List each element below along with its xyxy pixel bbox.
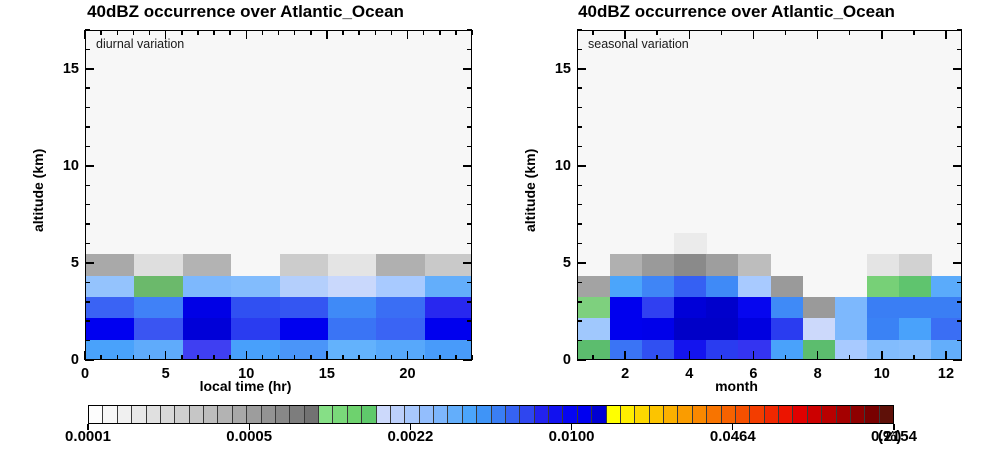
heatmap-cell bbox=[231, 254, 280, 276]
colorbar-segment bbox=[333, 406, 347, 423]
y-tick-right bbox=[957, 204, 962, 206]
y-tick-right bbox=[467, 243, 472, 245]
x-tick bbox=[246, 351, 248, 360]
x-tick bbox=[407, 351, 409, 360]
x-tick-top bbox=[326, 30, 328, 39]
colorbar-segment bbox=[678, 406, 692, 423]
x-tick-top bbox=[229, 30, 231, 35]
y-tick bbox=[85, 243, 90, 245]
y-tick-right bbox=[957, 107, 962, 109]
heatmap-cell bbox=[134, 254, 183, 276]
colorbar-tick-label: 0.0001 bbox=[65, 428, 111, 445]
colorbar-tick-label: 0.0022 bbox=[387, 428, 433, 445]
heatmap-cell bbox=[183, 254, 232, 276]
heatmap-cell bbox=[231, 340, 280, 360]
y-tick bbox=[85, 29, 90, 31]
heatmap-cell bbox=[674, 276, 707, 298]
heatmap-cell bbox=[867, 276, 900, 298]
x-tick bbox=[342, 355, 344, 360]
x-tick-top bbox=[310, 30, 312, 35]
heatmap-cell bbox=[771, 340, 804, 360]
heatmap-cell bbox=[835, 318, 868, 340]
y-tick-right bbox=[953, 68, 962, 70]
colorbar-segment bbox=[290, 406, 304, 423]
x-tick bbox=[278, 355, 280, 360]
heatmap-cell bbox=[86, 318, 135, 340]
x-tick-top bbox=[375, 30, 377, 35]
heatmap-cell bbox=[674, 233, 707, 255]
y-tick bbox=[85, 340, 90, 342]
heatmap-cell bbox=[738, 254, 771, 276]
colorbar-segment bbox=[118, 406, 132, 423]
y-tick-right bbox=[957, 243, 962, 245]
x-tick-top bbox=[262, 30, 264, 35]
heatmap-cell bbox=[867, 297, 900, 319]
colorbar-segment bbox=[89, 406, 103, 423]
colorbar-segment bbox=[348, 406, 362, 423]
colorbar-segment bbox=[463, 406, 477, 423]
x-tick-top bbox=[117, 30, 119, 35]
x-tick bbox=[423, 355, 425, 360]
heatmap-cell bbox=[231, 318, 280, 340]
colorbar-segment bbox=[736, 406, 750, 423]
x-tick-top bbox=[149, 30, 151, 35]
colorbar-segment bbox=[621, 406, 635, 423]
x-tick bbox=[391, 355, 393, 360]
x-tick-top bbox=[342, 30, 344, 35]
heatmap-cell bbox=[183, 318, 232, 340]
y-tick-label: 15 bbox=[55, 61, 79, 77]
x-tick bbox=[197, 355, 199, 360]
heatmap-cell bbox=[642, 254, 675, 276]
colorbar-unit-label: (%) bbox=[878, 428, 901, 445]
heatmap-cell bbox=[674, 340, 707, 360]
heatmap-cell bbox=[803, 340, 836, 360]
colorbar-segment bbox=[520, 406, 534, 423]
x-tick bbox=[455, 355, 457, 360]
y-tick bbox=[577, 29, 582, 31]
y-tick bbox=[85, 126, 90, 128]
y-tick-right bbox=[467, 87, 472, 89]
colorbar-segment bbox=[477, 406, 491, 423]
y-tick bbox=[577, 126, 582, 128]
y-tick bbox=[577, 359, 586, 361]
y-tick-right bbox=[467, 282, 472, 284]
colorbar-segment bbox=[161, 406, 175, 423]
heatmap-cell bbox=[134, 318, 183, 340]
plot-area-diurnal: diurnal variation bbox=[85, 30, 472, 360]
y-tick bbox=[85, 87, 90, 89]
x-tick bbox=[624, 351, 626, 360]
y-tick bbox=[85, 68, 94, 70]
colorbar-segment bbox=[822, 406, 836, 423]
colorbar-segment bbox=[247, 406, 261, 423]
heatmap-cell bbox=[376, 276, 425, 298]
x-tick bbox=[133, 355, 135, 360]
x-tick-top bbox=[181, 30, 183, 35]
x-tick-top bbox=[407, 30, 409, 39]
x-tick-top bbox=[439, 30, 441, 35]
heatmap-cell bbox=[706, 297, 739, 319]
heatmap-cell bbox=[86, 297, 135, 319]
heatmap-cell bbox=[642, 297, 675, 319]
heatmap-cell bbox=[738, 340, 771, 360]
y-tick-right bbox=[957, 282, 962, 284]
x-tick-top bbox=[391, 30, 393, 35]
x-tick-top bbox=[721, 30, 723, 35]
x-tick-top bbox=[358, 30, 360, 35]
heatmap-cell bbox=[280, 340, 329, 360]
x-tick-top bbox=[785, 30, 787, 35]
heatmap-cell bbox=[835, 340, 868, 360]
colorbar-segment bbox=[434, 406, 448, 423]
y-tick bbox=[577, 185, 582, 187]
heatmap-cell bbox=[134, 297, 183, 319]
heatmap-cell bbox=[674, 318, 707, 340]
y-tick-right bbox=[463, 262, 472, 264]
y-tick-right bbox=[957, 223, 962, 225]
y-axis-title-diurnal: altitude (km) bbox=[30, 149, 46, 232]
heatmap-cell bbox=[86, 276, 135, 298]
colorbar-segment bbox=[808, 406, 822, 423]
colorbar-region: 0.00010.00050.00220.01000.04640.2154 (%) bbox=[0, 398, 983, 472]
heatmap-cell bbox=[183, 276, 232, 298]
heatmap-cell bbox=[280, 297, 329, 319]
heatmap-cell bbox=[642, 340, 675, 360]
colorbar-segment bbox=[549, 406, 563, 423]
y-tick-right bbox=[957, 301, 962, 303]
x-tick bbox=[439, 355, 441, 360]
panel-seasonal: 40dBZ occurrence over Atlantic_Ocean sea… bbox=[491, 0, 982, 400]
x-tick bbox=[849, 355, 851, 360]
y-tick bbox=[85, 165, 94, 167]
x-tick-top bbox=[423, 30, 425, 35]
x-tick bbox=[913, 355, 915, 360]
heatmap-cell bbox=[280, 318, 329, 340]
y-tick-right bbox=[467, 301, 472, 303]
colorbar-segment bbox=[233, 406, 247, 423]
y-tick-right bbox=[467, 204, 472, 206]
y-tick bbox=[85, 223, 90, 225]
heatmap-cell bbox=[771, 318, 804, 340]
y-tick-right bbox=[467, 29, 472, 31]
colorbar-segment bbox=[650, 406, 664, 423]
x-tick bbox=[753, 351, 755, 360]
y-tick-label: 10 bbox=[55, 158, 79, 174]
x-tick bbox=[310, 355, 312, 360]
x-tick-top bbox=[246, 30, 248, 39]
heatmap-cell bbox=[328, 340, 377, 360]
heatmap-cell bbox=[706, 276, 739, 298]
y-tick-label: 10 bbox=[547, 158, 571, 174]
y-tick-right bbox=[467, 49, 472, 51]
y-tick bbox=[577, 204, 582, 206]
x-tick-top bbox=[455, 30, 457, 35]
x-tick-top bbox=[213, 30, 215, 35]
y-tick-right bbox=[957, 87, 962, 89]
x-tick bbox=[165, 351, 167, 360]
heatmap-cell bbox=[738, 297, 771, 319]
y-tick bbox=[577, 107, 582, 109]
y-tick-label: 5 bbox=[55, 255, 79, 271]
y-tick bbox=[85, 204, 90, 206]
heatmap-cell bbox=[280, 254, 329, 276]
heatmap-cell bbox=[610, 276, 643, 298]
x-tick bbox=[149, 355, 151, 360]
y-tick bbox=[85, 282, 90, 284]
colorbar-segment bbox=[204, 406, 218, 423]
heatmap-cell bbox=[578, 340, 611, 360]
colorbar-segment bbox=[664, 406, 678, 423]
annotation-diurnal: diurnal variation bbox=[96, 37, 184, 51]
y-tick bbox=[577, 223, 582, 225]
heatmap-cell bbox=[771, 276, 804, 298]
y-tick-right bbox=[957, 146, 962, 148]
heatmap-cell bbox=[642, 318, 675, 340]
heatmap-cell bbox=[674, 297, 707, 319]
heatmap-cell bbox=[183, 297, 232, 319]
y-tick-label: 0 bbox=[547, 352, 571, 368]
y-tick bbox=[577, 340, 582, 342]
heatmap-cell bbox=[642, 276, 675, 298]
heatmap-cell bbox=[835, 297, 868, 319]
colorbar-segment bbox=[793, 406, 807, 423]
y-tick bbox=[577, 146, 582, 148]
colorbar-segment bbox=[492, 406, 506, 423]
y-tick-right bbox=[467, 320, 472, 322]
x-tick bbox=[881, 351, 883, 360]
heatmap-cell bbox=[610, 340, 643, 360]
heatmap-cell bbox=[578, 297, 611, 319]
heatmap-cell bbox=[931, 276, 962, 298]
y-tick-right bbox=[467, 340, 472, 342]
y-tick-right bbox=[463, 68, 472, 70]
colorbar-tick-label: 0.0100 bbox=[549, 428, 595, 445]
heatmap-cell bbox=[376, 297, 425, 319]
heatmap-cell bbox=[425, 318, 472, 340]
y-tick-right bbox=[953, 165, 962, 167]
colorbar-segment bbox=[506, 406, 520, 423]
colorbar-segment bbox=[765, 406, 779, 423]
colorbar-segment bbox=[262, 406, 276, 423]
x-tick bbox=[213, 355, 215, 360]
colorbar bbox=[88, 405, 894, 424]
colorbar-segment bbox=[305, 406, 319, 423]
y-tick-right bbox=[463, 165, 472, 167]
heatmap-cells-diurnal bbox=[86, 31, 471, 359]
y-tick bbox=[577, 68, 586, 70]
heatmap-cell bbox=[899, 276, 932, 298]
y-tick-right bbox=[957, 126, 962, 128]
x-tick bbox=[181, 355, 183, 360]
y-tick-right bbox=[957, 49, 962, 51]
heatmap-cell bbox=[425, 276, 472, 298]
y-tick bbox=[577, 243, 582, 245]
colorbar-segment bbox=[880, 406, 893, 423]
heatmap-cell bbox=[231, 297, 280, 319]
y-tick bbox=[85, 146, 90, 148]
x-tick-top bbox=[849, 30, 851, 35]
colorbar-segment bbox=[837, 406, 851, 423]
y-tick bbox=[577, 87, 582, 89]
y-tick-right bbox=[957, 340, 962, 342]
x-tick-top bbox=[294, 30, 296, 35]
y-tick-right bbox=[953, 359, 962, 361]
heatmap-cell bbox=[134, 340, 183, 360]
colorbar-segment bbox=[635, 406, 649, 423]
x-tick bbox=[656, 355, 658, 360]
x-tick-top bbox=[656, 30, 658, 35]
colorbar-segment bbox=[750, 406, 764, 423]
colorbar-segment bbox=[693, 406, 707, 423]
heatmap-cell bbox=[899, 318, 932, 340]
colorbar-segment bbox=[592, 406, 606, 423]
x-tick bbox=[229, 355, 231, 360]
x-tick bbox=[117, 355, 119, 360]
y-tick-right bbox=[467, 107, 472, 109]
y-tick-right bbox=[467, 185, 472, 187]
heatmap-cell bbox=[610, 254, 643, 276]
x-tick bbox=[721, 355, 723, 360]
heatmap-cell bbox=[183, 340, 232, 360]
annotation-seasonal: seasonal variation bbox=[588, 37, 689, 51]
heatmap-cell bbox=[328, 297, 377, 319]
x-tick bbox=[375, 355, 377, 360]
heatmap-cell bbox=[328, 276, 377, 298]
colorbar-segment bbox=[851, 406, 865, 423]
heatmap-cell bbox=[706, 254, 739, 276]
y-tick bbox=[85, 107, 90, 109]
y-tick bbox=[85, 359, 94, 361]
x-tick-top bbox=[881, 30, 883, 39]
y-tick bbox=[577, 282, 582, 284]
y-tick-right bbox=[467, 223, 472, 225]
heatmap-cell bbox=[376, 254, 425, 276]
heatmap-cell bbox=[610, 318, 643, 340]
heatmap-cell bbox=[86, 340, 135, 360]
panel-title-seasonal: 40dBZ occurrence over Atlantic_Ocean bbox=[491, 2, 982, 22]
colorbar-segment bbox=[391, 406, 405, 423]
colorbar-segment bbox=[607, 406, 621, 423]
y-tick-right bbox=[463, 359, 472, 361]
colorbar-segment bbox=[563, 406, 577, 423]
y-tick-right bbox=[957, 320, 962, 322]
heatmap-cell bbox=[867, 318, 900, 340]
x-tick-top bbox=[100, 30, 102, 35]
x-tick bbox=[945, 351, 947, 360]
y-tick-label: 5 bbox=[547, 255, 571, 271]
heatmap-cell bbox=[706, 340, 739, 360]
heatmap-cell bbox=[867, 340, 900, 360]
y-tick-right bbox=[953, 262, 962, 264]
colorbar-segment bbox=[147, 406, 161, 423]
y-tick-right bbox=[467, 146, 472, 148]
heatmap-cell bbox=[803, 318, 836, 340]
heatmap-cell bbox=[867, 254, 900, 276]
heatmap-cell bbox=[425, 254, 472, 276]
x-tick-top bbox=[133, 30, 135, 35]
heatmap-cell bbox=[899, 340, 932, 360]
heatmap-cell bbox=[376, 318, 425, 340]
x-tick bbox=[100, 355, 102, 360]
figure-root: 40dBZ occurrence over Atlantic_Ocean diu… bbox=[0, 0, 983, 472]
colorbar-segment bbox=[448, 406, 462, 423]
colorbar-segment bbox=[103, 406, 117, 423]
colorbar-segment bbox=[779, 406, 793, 423]
x-tick bbox=[592, 355, 594, 360]
colorbar-tick-label: 0.0464 bbox=[710, 428, 756, 445]
colorbar-segment bbox=[175, 406, 189, 423]
x-tick bbox=[326, 351, 328, 360]
y-tick bbox=[577, 262, 586, 264]
y-tick bbox=[85, 320, 90, 322]
y-tick bbox=[577, 320, 582, 322]
heatmap-cell bbox=[578, 318, 611, 340]
x-axis-title-diurnal: local time (hr) bbox=[0, 378, 491, 394]
heatmap-cell bbox=[803, 297, 836, 319]
y-tick bbox=[85, 185, 90, 187]
x-tick bbox=[262, 355, 264, 360]
heatmap-cell bbox=[706, 318, 739, 340]
colorbar-segment bbox=[722, 406, 736, 423]
x-tick bbox=[358, 355, 360, 360]
colorbar-segment bbox=[132, 406, 146, 423]
colorbar-segment bbox=[707, 406, 721, 423]
x-tick-top bbox=[753, 30, 755, 39]
x-tick bbox=[294, 355, 296, 360]
colorbar-segment bbox=[405, 406, 419, 423]
panel-title-diurnal: 40dBZ occurrence over Atlantic_Ocean bbox=[0, 2, 491, 22]
colorbar-segment bbox=[377, 406, 391, 423]
x-tick bbox=[689, 351, 691, 360]
x-tick-top bbox=[471, 30, 473, 35]
x-tick-top bbox=[84, 30, 86, 39]
colorbar-segment bbox=[276, 406, 290, 423]
heatmap-cell bbox=[134, 276, 183, 298]
x-tick-top bbox=[197, 30, 199, 35]
colorbar-segment bbox=[218, 406, 232, 423]
heatmap-cell bbox=[86, 254, 135, 276]
heatmap-cell bbox=[899, 297, 932, 319]
y-tick bbox=[577, 49, 582, 51]
heatmap-cell bbox=[425, 297, 472, 319]
heatmap-cells-seasonal bbox=[578, 31, 961, 359]
heatmap-cell bbox=[425, 340, 472, 360]
x-tick bbox=[785, 355, 787, 360]
colorbar-segment bbox=[535, 406, 549, 423]
x-tick-top bbox=[913, 30, 915, 35]
x-tick-top bbox=[817, 30, 819, 39]
colorbar-segment bbox=[319, 406, 333, 423]
heatmap-cell bbox=[738, 276, 771, 298]
colorbar-tick-label: 0.0005 bbox=[226, 428, 272, 445]
y-tick-right bbox=[467, 126, 472, 128]
y-tick bbox=[85, 301, 90, 303]
heatmap-cell bbox=[771, 297, 804, 319]
colorbar-segment bbox=[578, 406, 592, 423]
panel-diurnal: 40dBZ occurrence over Atlantic_Ocean diu… bbox=[0, 0, 491, 400]
y-tick-label: 15 bbox=[547, 61, 571, 77]
y-tick-label: 0 bbox=[55, 352, 79, 368]
heatmap-cell bbox=[738, 318, 771, 340]
y-tick-right bbox=[957, 29, 962, 31]
colorbar-segment bbox=[420, 406, 434, 423]
x-tick-top bbox=[945, 30, 947, 39]
heatmap-cell bbox=[578, 276, 611, 298]
heatmap-cell bbox=[674, 254, 707, 276]
y-axis-title-seasonal: altitude (km) bbox=[522, 149, 538, 232]
x-tick-top bbox=[278, 30, 280, 35]
